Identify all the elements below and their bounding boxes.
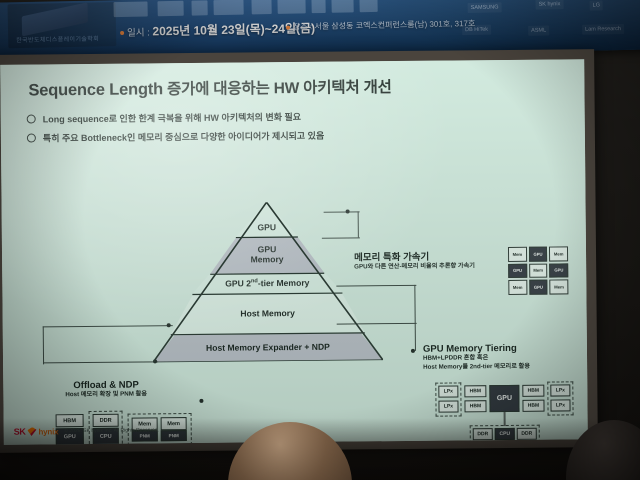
banner-place-prefix: 장소 : (293, 22, 312, 31)
block-lpx: LPx (550, 399, 570, 411)
banner-title-blocks (111, 0, 411, 20)
banner-date-bullet-icon (120, 31, 124, 35)
presentation-slide: Sequence Length 증가에 대응하는 HW 아키텍처 개선 Long… (0, 59, 588, 445)
connector-line (414, 285, 416, 351)
sponsor-logo: LG (590, 0, 604, 10)
chip-cell-mem: Mem (508, 280, 527, 295)
annotation-subtext: GPU와 다른 연산-메모리 비율의 추론향 가속기 (354, 262, 475, 272)
memory-hierarchy-pyramid: GPU GPU Memory GPU 2nd-tier Memory Host … (152, 201, 384, 383)
block-lpx: LPx (438, 385, 458, 397)
annotation-memory-accelerator: 메모리 특화 가속기 GPU와 다른 연산-메모리 비율의 추론향 가속기 (354, 248, 475, 272)
sponsor-logo: ASML (528, 25, 549, 35)
chip-cell-gpu: GPU (529, 247, 548, 262)
pyramid-tier-gpu: GPU (236, 202, 298, 237)
annotation-heading: 메모리 특화 가속기 (354, 248, 475, 263)
pyramid-tier-label: Host Memory Expander + NDP (206, 342, 330, 353)
banner-society-logo: 한국반도체디스플레이기술학회 (8, 2, 117, 48)
chip-cell-gpu: GPU (529, 280, 548, 295)
banner-society-name: 한국반도체디스플레이기술학회 (16, 33, 99, 44)
photo-scene: 한국반도체디스플레이기술학회 일시 : 2025년 10월 23일(목)~24일… (0, 0, 640, 480)
pyramid-tier-second-tier-memory: GPU 2nd-tier Memory (192, 274, 342, 294)
annotation-offload-ndp: Offload & NDP Host 메모리 확장 및 PNM 활용 (65, 379, 147, 400)
connector-dot (411, 349, 415, 353)
banner-date-prefix: 일시 : (127, 27, 150, 38)
connector-line (43, 361, 158, 363)
slide-bullet-list: Long sequence로 인한 한계 극복을 위해 HW 아키텍처의 변화 … (27, 108, 527, 151)
bullet-text: Long sequence로 인한 한계 극복을 위해 HW 아키텍처의 변화 … (43, 110, 301, 125)
pyramid-tier-host-memory-expander: Host Memory Expander + NDP (153, 333, 383, 362)
block-hbm: HBM (522, 385, 544, 397)
annotation-gpu-memory-tiering: GPU Memory Tiering HBM+LPDDR 혼합 혹은 Host … (423, 343, 530, 373)
banner-sponsor-logos: SAMSUNG SK hynix LG DB HiTek ASML Lam Re… (432, 0, 640, 48)
pyramid-tier-label: GPU (236, 223, 298, 233)
chip-cell-gpu: GPU (549, 263, 568, 278)
connector-line (358, 211, 360, 237)
sponsor-logo: SAMSUNG (468, 2, 502, 13)
pyramid-tier-host-memory: Host Memory (170, 293, 364, 334)
banner-date-text: 2025년 10월 23일(목)~24일(금) (152, 21, 315, 38)
projection-screen-frame: Sequence Length 증가에 대응하는 HW 아키텍처 개선 Long… (0, 49, 598, 453)
annotation-subtext: Host 메모리 확장 및 PNM 활용 (65, 390, 147, 400)
chip-cell-gpu: GPU (508, 263, 527, 278)
sponsor-logo: Lam Research (582, 24, 624, 35)
annotation-heading: GPU Memory Tiering (423, 343, 530, 355)
connector-dot (199, 399, 203, 403)
chip-cell-mem: Mem (550, 280, 569, 295)
pyramid-tier-gpu-memory: GPU Memory (210, 237, 324, 274)
slide-title-en: Sequence Length (28, 80, 163, 99)
chip-cell-mem: Mem (529, 263, 548, 278)
slide-title-ko: 증가에 대응하는 HW 아키텍처 개선 (163, 79, 392, 98)
annotation-subtext-line2: Host Memory를 2nd-tier 메모리로 활용 (423, 363, 530, 373)
annotation-heading: Offload & NDP (65, 379, 147, 391)
bullet-item: 특히 주요 Bottleneck인 메모리 중심으로 다양한 아이디어가 제시되… (27, 127, 527, 145)
banner-place-bullet-icon (286, 26, 290, 30)
block-lpx: LPx (438, 400, 458, 412)
bullet-item: Long sequence로 인한 한계 극복을 위해 HW 아키텍처의 변화 … (27, 108, 527, 126)
banner-place: 장소 : 서울 삼성동 코엑스컨퍼런스룸(남) 301호, 317호 (286, 18, 475, 33)
bullet-text: 특히 주요 Bottleneck인 메모리 중심으로 다양한 아이디어가 제시되… (43, 129, 324, 145)
chip-cell-mem: Mem (508, 247, 527, 262)
pyramid-tier-label: Host Memory (240, 309, 295, 319)
bullet-circle-icon (27, 133, 36, 142)
bullet-circle-icon (27, 114, 36, 123)
banner-place-text: 서울 삼성동 코엑스컨퍼런스룸(남) 301호, 317호 (314, 19, 475, 31)
sponsor-logo: SK hynix (536, 0, 564, 10)
accelerator-chip-grid: Mem GPU Mem GPU Mem GPU Mem GPU Mem (507, 245, 569, 296)
sponsor-logo: DB HiTek (462, 25, 491, 36)
pyramid-tier-label: GPU Memory (250, 245, 283, 265)
banner-date: 일시 : 2025년 10월 23일(목)~24일(금) (120, 19, 315, 40)
slide-title: Sequence Length 증가에 대응하는 HW 아키텍처 개선 (28, 75, 391, 100)
block-hbm: HBM (464, 400, 486, 412)
projection-screen: Sequence Length 증가에 대응하는 HW 아키텍처 개선 Long… (0, 59, 588, 445)
connector-dot (167, 323, 171, 327)
block-gpu: GPU (489, 385, 519, 412)
chip-cell-mem: Mem (549, 246, 568, 261)
block-hbm: HBM (464, 385, 486, 397)
connector-line (43, 326, 45, 364)
pyramid-tier-label: GPU 2nd-tier Memory (225, 278, 309, 290)
block-hbm: HBM (522, 400, 544, 412)
block-lpx: LPx (550, 384, 570, 396)
connector-dot (346, 209, 350, 213)
connector-dot (153, 359, 157, 363)
